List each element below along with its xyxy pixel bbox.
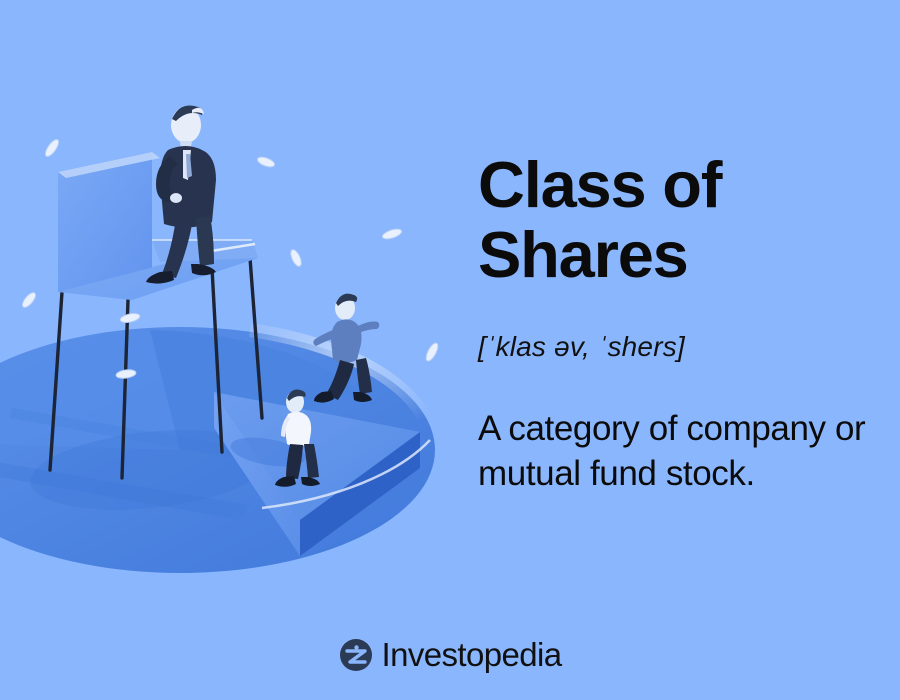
brand-logo: Investopedia: [0, 636, 900, 674]
illustration: [0, 0, 450, 640]
definition-text: A category of company or mutual fund sto…: [478, 407, 878, 497]
businessman-figure: [146, 106, 216, 284]
title-line-1: Class of: [478, 148, 721, 221]
title-line-2: Shares: [478, 218, 688, 291]
brand-name: Investopedia: [382, 636, 562, 674]
investopedia-circle-z-icon: [339, 638, 373, 672]
phonetic-transcription: [ˈklas əv, ˈshers]: [478, 331, 878, 363]
definition-card: Class of Shares [ˈklas əv, ˈshers] A cat…: [0, 0, 900, 700]
page-title: Class of Shares: [478, 150, 878, 289]
text-column: Class of Shares [ˈklas əv, ˈshers] A cat…: [478, 150, 878, 497]
